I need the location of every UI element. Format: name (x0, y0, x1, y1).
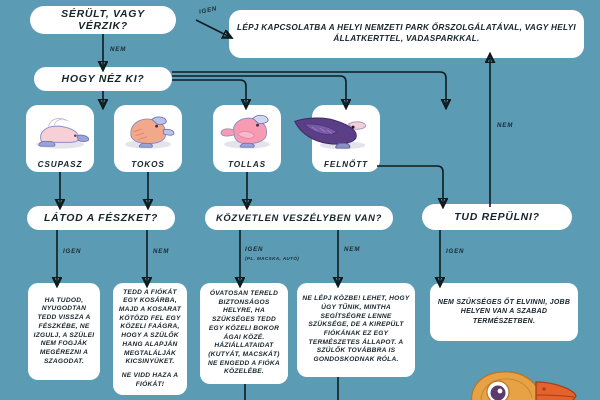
card-csupasz-label: CSUPASZ (26, 160, 94, 169)
edge-injured-yes (196, 20, 228, 36)
edge-looks-to-tokos (172, 80, 246, 104)
connector-layer (0, 0, 600, 400)
edge-felnott-to-fly (377, 166, 443, 203)
flowchart-canvas: SÉRÜLT, VAGY VÉRZIK? LÉPJ KAPCSOLATBA A … (0, 0, 600, 400)
card-felnott-label: FELNŐTT (312, 160, 380, 169)
card-tokos-label: TOKOS (114, 160, 182, 169)
card-tollas-label: TOLLAS (213, 160, 281, 169)
